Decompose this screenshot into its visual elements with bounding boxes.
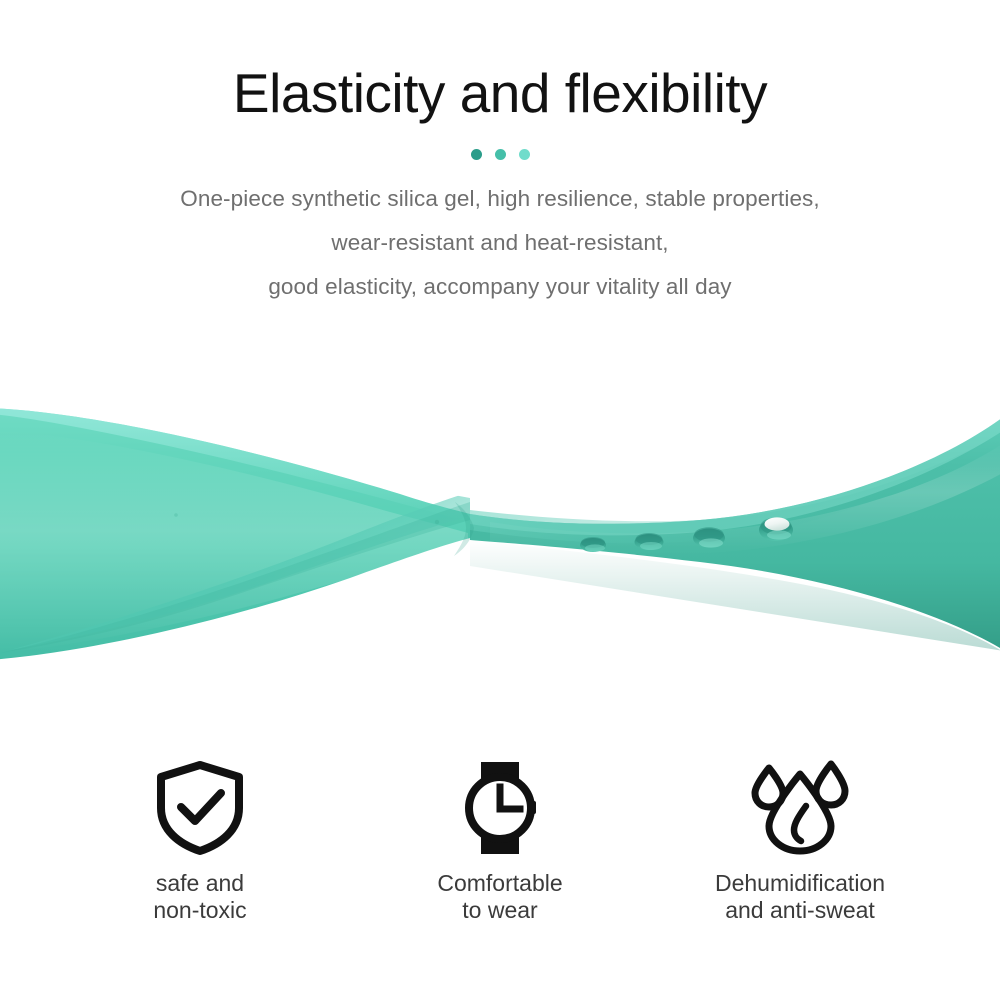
subtitle-line-2: wear-resistant and heat-resistant, — [0, 221, 1000, 265]
feature-label-dehumidification: Dehumidification and anti-sweat — [715, 870, 885, 924]
subtitle-line-1: One-piece synthetic silica gel, high res… — [0, 177, 1000, 221]
surface-speck — [174, 513, 178, 517]
twisted-band-illustration — [0, 370, 1000, 700]
subtitle-text: One-piece synthetic silica gel, high res… — [0, 161, 1000, 309]
band-hole-with-pin — [759, 517, 793, 541]
subtitle-line-3: good elasticity, accompany your vitality… — [0, 265, 1000, 309]
feature-item-safe-non-toxic: safe and non-toxic — [50, 760, 350, 924]
shield-check-icon — [154, 760, 246, 856]
product-feature-page: Elasticity and flexibility One-piece syn… — [0, 0, 1000, 1000]
droplet-inner-highlight — [794, 806, 806, 841]
band-hole — [580, 537, 606, 552]
metal-pin-icon — [765, 517, 790, 530]
band-hole — [635, 533, 664, 550]
divider-dots — [0, 147, 1000, 161]
header-section: Elasticity and flexibility One-piece syn… — [0, 0, 1000, 309]
check-mark — [181, 793, 221, 821]
feature-list: safe and non-toxic Comfortable to we — [0, 760, 1000, 950]
shield-outline — [161, 765, 239, 851]
feature-item-dehumidification: Dehumidification and anti-sweat — [650, 760, 950, 924]
surface-speck — [435, 520, 439, 524]
feature-label-safe-non-toxic: safe and non-toxic — [153, 870, 246, 924]
dot-3-icon — [519, 149, 530, 160]
dot-2-icon — [495, 149, 506, 160]
feature-label-comfortable-to-wear: Comfortable to wear — [437, 870, 562, 924]
page-title: Elasticity and flexibility — [0, 0, 1000, 125]
watch-hands — [500, 787, 520, 809]
wristwatch-icon — [454, 760, 546, 856]
dot-1-icon — [471, 149, 482, 160]
product-image — [0, 370, 1000, 700]
band-hole — [693, 527, 725, 547]
feature-item-comfortable-to-wear: Comfortable to wear — [350, 760, 650, 924]
water-droplets-icon — [748, 760, 852, 856]
